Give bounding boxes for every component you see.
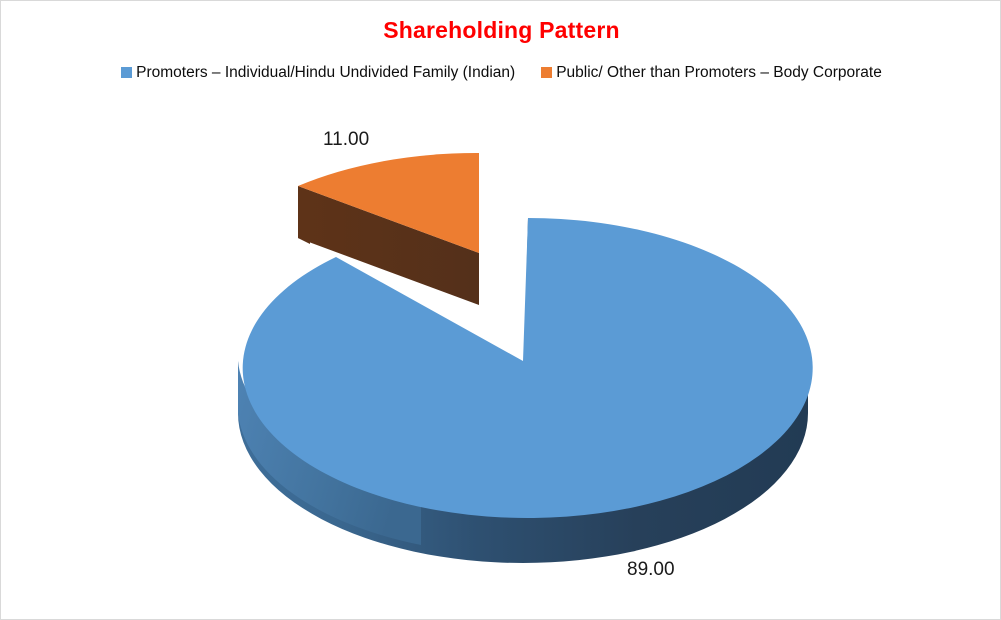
pie-slice-promoters-top	[243, 218, 813, 518]
pie-slice-promoters-3d[interactable]	[238, 218, 813, 563]
chart-container: Shareholding Pattern Promoters – Individ…	[0, 0, 1001, 620]
pie-slice-public-side-wall-left	[298, 186, 310, 244]
pie-chart-graphic	[1, 1, 1001, 620]
data-label-public: 11.00	[323, 129, 369, 151]
data-label-promoters: 89.00	[627, 559, 675, 581]
